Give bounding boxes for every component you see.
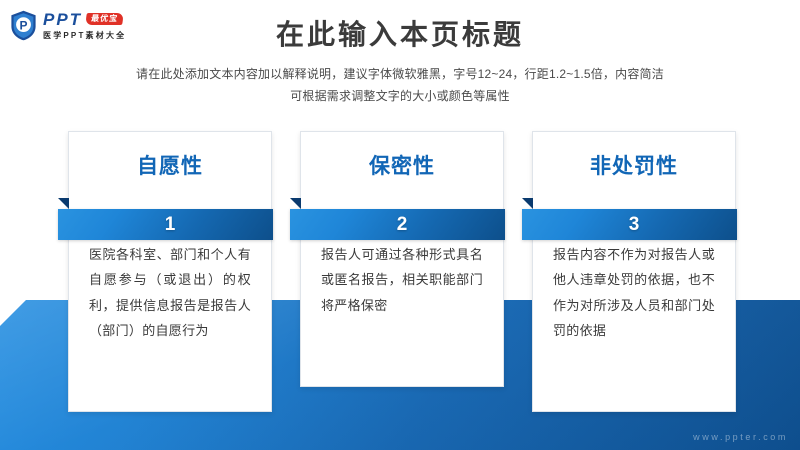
ribbon-body: 1 bbox=[58, 209, 273, 240]
ribbon-number: 3 bbox=[629, 215, 640, 234]
ribbon-body: 3 bbox=[522, 209, 737, 240]
card-voluntariness[interactable]: 自愿性 1 医院各科室、部门和个人有自愿参与（或退出）的权利，提供信息报告是报告… bbox=[68, 131, 272, 412]
page-title: 在此输入本页标题 bbox=[0, 18, 800, 52]
subtitle-line-2: 可根据需求调整文字的大小或颜色等属性 bbox=[0, 85, 800, 107]
footer-watermark-url: www.ppter.com bbox=[693, 432, 788, 442]
card-confidentiality[interactable]: 保密性 2 报告人可通过各种形式具名或匿名报告，相关职能部门将严格保密 bbox=[300, 131, 504, 387]
card-title: 保密性 bbox=[301, 132, 503, 198]
card-title: 自愿性 bbox=[69, 132, 271, 198]
subtitle-line-1: 请在此处添加文本内容加以解释说明，建议字体微软雅黑，字号12~24，行距1.2~… bbox=[0, 63, 800, 85]
ribbon-number: 2 bbox=[397, 215, 408, 234]
ribbon-fold-icon bbox=[522, 198, 533, 209]
card-ribbon: 2 bbox=[290, 198, 505, 240]
page-subtitle: 请在此处添加文本内容加以解释说明，建议字体微软雅黑，字号12~24，行距1.2~… bbox=[0, 63, 800, 107]
slide-canvas: P PPT 最优宝 医学PPT素材大全 在此输入本页标题 请在此处添加文本内容加… bbox=[0, 0, 800, 450]
ribbon-body: 2 bbox=[290, 209, 505, 240]
card-title: 非处罚性 bbox=[533, 132, 735, 198]
card-group: 自愿性 1 医院各科室、部门和个人有自愿参与（或退出）的权利，提供信息报告是报告… bbox=[0, 131, 800, 421]
card-ribbon: 3 bbox=[522, 198, 737, 240]
ribbon-number: 1 bbox=[165, 215, 176, 234]
ribbon-fold-icon bbox=[58, 198, 69, 209]
card-non-punitive[interactable]: 非处罚性 3 报告内容不作为对报告人或他人违章处罚的依据，也不作为对所涉及人员和… bbox=[532, 131, 736, 412]
card-ribbon: 1 bbox=[58, 198, 273, 240]
ribbon-fold-icon bbox=[290, 198, 301, 209]
